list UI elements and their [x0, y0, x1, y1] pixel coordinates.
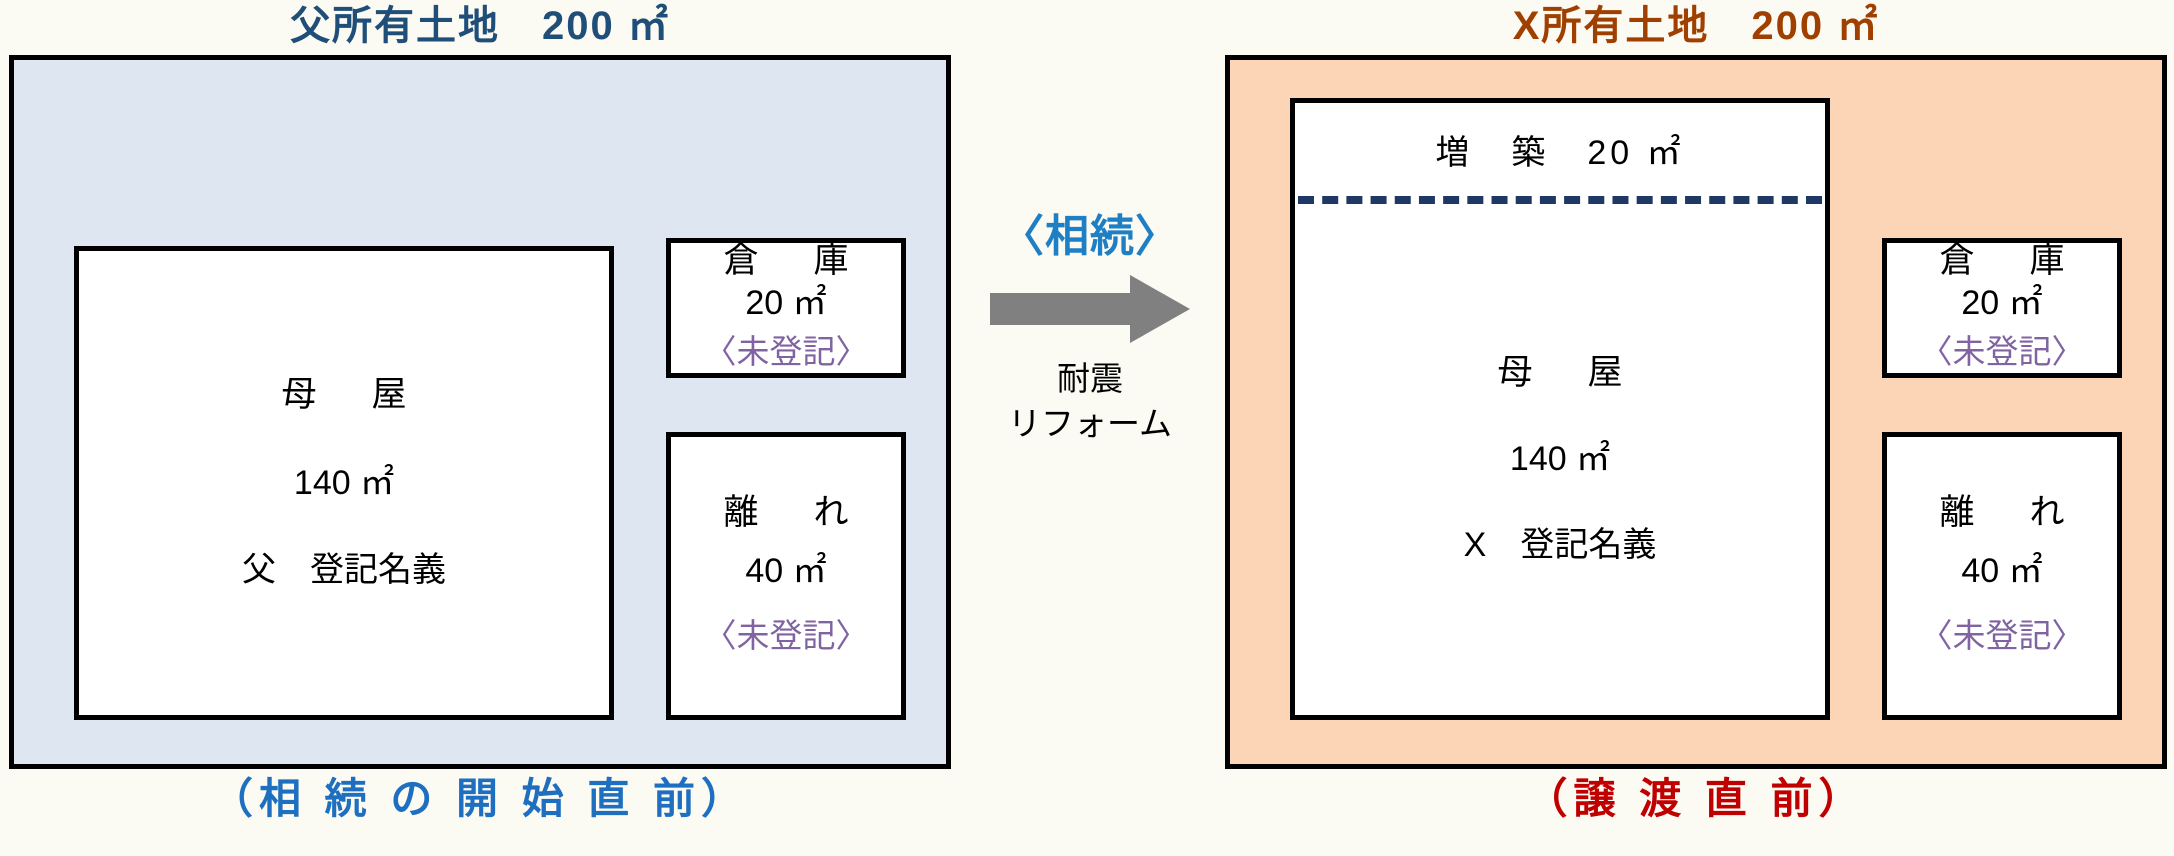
right-annex-name: 離 れ	[1929, 495, 2074, 532]
right-main-house-body: 母 屋 140 ㎡ X 登記名義	[1295, 204, 1825, 715]
left-warehouse-registration-status: 〈未登記〉	[704, 325, 869, 373]
right-arrow-icon	[990, 273, 1190, 345]
extension-label: 増 築 20 ㎡	[1435, 125, 1684, 174]
left-land-plot: 母 屋 140 ㎡ 父 登記名義 倉 庫 20 ㎡ 〈未登記〉 離 れ 40 ㎡…	[9, 55, 951, 769]
left-warehouse-area: 20 ㎡	[745, 286, 826, 322]
left-land-title: 父所有土地 200 ㎡	[9, 6, 951, 46]
right-warehouse-box: 倉 庫 20 ㎡ 〈未登記〉	[1882, 238, 2122, 378]
extension-zone: 増 築 20 ㎡	[1295, 103, 1825, 196]
left-annex-name: 離 れ	[713, 495, 858, 532]
left-main-house-owner: 父 登記名義	[242, 553, 446, 589]
right-warehouse-area: 20 ㎡	[1961, 286, 2042, 322]
left-annex-box: 離 れ 40 ㎡ 〈未登記〉	[666, 432, 906, 720]
right-main-house-owner: X 登記名義	[1464, 528, 1657, 564]
right-main-house-area: 140 ㎡	[1510, 442, 1610, 478]
left-annex-area: 40 ㎡	[745, 554, 826, 590]
diagram-canvas: 父所有土地 200 ㎡ 母 屋 140 ㎡ 父 登記名義 倉 庫 20 ㎡ 〈未…	[0, 0, 2174, 856]
left-main-house-name: 母 屋	[271, 377, 416, 414]
extension-divider-line	[1298, 196, 1822, 204]
reform-label-line2: リフォーム	[1008, 402, 1172, 447]
right-land-plot: 増 築 20 ㎡ 母 屋 140 ㎡ X 登記名義 倉 庫 20 ㎡ 〈未登記〉…	[1225, 55, 2167, 769]
left-main-house-box: 母 屋 140 ㎡ 父 登記名義	[74, 246, 614, 720]
right-phase-caption: （譲 渡 直 前）	[1225, 778, 2167, 820]
left-phase-caption: （相 続 の 開 始 直 前）	[9, 778, 951, 820]
right-main-house-name: 母 屋	[1487, 355, 1632, 392]
left-annex-registration-status: 〈未登記〉	[704, 609, 869, 657]
left-warehouse-name: 倉 庫	[713, 243, 858, 280]
inheritance-label: 〈相続〉	[1000, 215, 1180, 259]
right-annex-registration-status: 〈未登記〉	[1920, 609, 2085, 657]
right-land-title: X所有土地 200 ㎡	[1225, 6, 2167, 46]
reform-label-line1: 耐震	[1008, 357, 1172, 402]
left-main-house-area: 140 ㎡	[294, 466, 394, 502]
reform-label: 耐震 リフォーム	[1008, 357, 1172, 446]
left-warehouse-box: 倉 庫 20 ㎡ 〈未登記〉	[666, 238, 906, 378]
right-annex-box: 離 れ 40 ㎡ 〈未登記〉	[1882, 432, 2122, 720]
right-warehouse-registration-status: 〈未登記〉	[1920, 325, 2085, 373]
right-warehouse-name: 倉 庫	[1929, 243, 2074, 280]
transition-group: 〈相続〉 耐震 リフォーム	[960, 215, 1220, 545]
right-main-house-box: 増 築 20 ㎡ 母 屋 140 ㎡ X 登記名義	[1290, 98, 1830, 720]
right-annex-area: 40 ㎡	[1961, 554, 2042, 590]
